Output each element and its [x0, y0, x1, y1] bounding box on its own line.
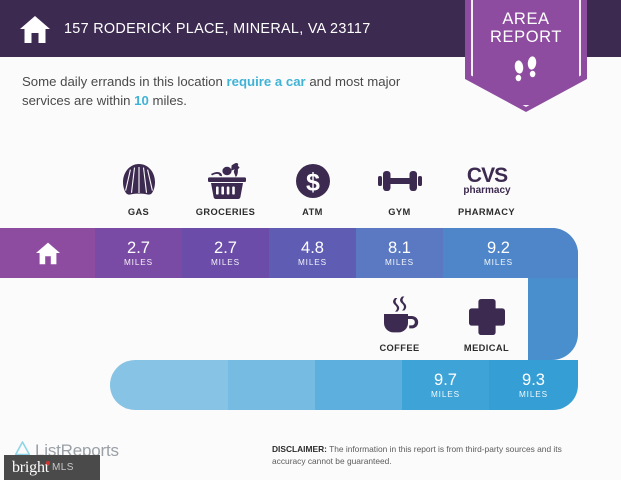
- category-icons-row-1: GAS: [95, 158, 530, 228]
- category-label: COFFEE: [379, 343, 419, 353]
- disclaimer: DISCLAIMER: The information in this repo…: [272, 444, 594, 467]
- distance-cell-gym: 8.1 MILES: [356, 228, 443, 278]
- bright-text: bright: [12, 459, 49, 476]
- category-medical: MEDICAL: [443, 294, 530, 360]
- category-label: ATM: [302, 207, 323, 217]
- category-spacer-1: [95, 294, 182, 360]
- badge-title: AREA REPORT: [465, 10, 587, 46]
- badge-line-1: AREA: [465, 10, 587, 28]
- svg-text:pharmacy: pharmacy: [463, 185, 511, 196]
- grocery-basket-icon: [203, 158, 249, 204]
- category-spacer-2: [182, 294, 269, 360]
- distance-unit: MILES: [298, 258, 327, 267]
- distance-value: 2.7: [214, 240, 237, 257]
- distance-cell-groceries: 2.7 MILES: [182, 228, 269, 278]
- intro-text: Some daily errands in this location requ…: [22, 72, 422, 110]
- mls-label: MLS: [52, 462, 74, 473]
- home-icon: [18, 12, 52, 46]
- footprints-icon: [465, 56, 587, 90]
- cvs-pharmacy-icon: CVS pharmacy: [456, 158, 518, 204]
- category-label: GAS: [128, 207, 149, 217]
- distance-unit: MILES: [211, 258, 240, 267]
- badge-line-2: REPORT: [465, 28, 587, 46]
- shell-gas-icon: [118, 158, 160, 204]
- distance-cell-gas: 2.7 MILES: [95, 228, 182, 278]
- category-icons-row-2: COFFEE MEDICAL: [95, 294, 530, 360]
- dumbbell-icon: [376, 158, 424, 204]
- category-spacer-3: [269, 294, 356, 360]
- category-atm: $ ATM: [269, 158, 356, 228]
- intro-part-1: Some daily errands in this location: [22, 74, 227, 89]
- distance-value: 2.7: [127, 240, 150, 257]
- category-groceries: GROCERIES: [182, 158, 269, 228]
- distance-value: 9.7: [434, 372, 457, 389]
- distance-cell-empty-1: [110, 360, 228, 410]
- intro-part-3: miles.: [149, 93, 187, 108]
- intro-highlight-car: require a car: [227, 74, 306, 89]
- distance-cell-coffee: 9.7 MILES: [402, 360, 489, 410]
- category-label: PHARMACY: [458, 207, 515, 217]
- area-report-badge: AREA REPORT: [465, 0, 587, 112]
- distance-cell-medical: 9.3 MILES: [489, 360, 578, 410]
- category-label: GROCERIES: [196, 207, 255, 217]
- distance-cell-atm: 4.8 MILES: [269, 228, 356, 278]
- distance-unit: MILES: [124, 258, 153, 267]
- distance-value: 9.3: [522, 372, 545, 389]
- medical-cross-icon: [467, 294, 507, 340]
- ribbon-home-cell: [0, 228, 95, 278]
- distance-unit: MILES: [484, 258, 513, 267]
- intro-highlight-miles: 10: [134, 93, 149, 108]
- category-gas: GAS: [95, 158, 182, 228]
- distance-cell-pharmacy: 9.2 MILES: [443, 228, 578, 278]
- bright-accent-dot: [46, 461, 50, 465]
- coffee-cup-icon: [377, 294, 423, 340]
- distance-bar-row-2: 9.7 MILES 9.3 MILES: [110, 360, 578, 410]
- distance-value: 4.8: [301, 240, 324, 257]
- category-label: MEDICAL: [464, 343, 509, 353]
- distance-unit: MILES: [431, 390, 460, 399]
- distance-unit: MILES: [519, 390, 548, 399]
- distance-unit: MILES: [385, 258, 414, 267]
- svg-text:CVS: CVS: [466, 164, 507, 187]
- category-coffee: COFFEE: [356, 294, 443, 360]
- category-pharmacy: CVS pharmacy PHARMACY: [443, 158, 530, 228]
- distance-cell-empty-3: [315, 360, 402, 410]
- dollar-circle-icon: $: [292, 158, 334, 204]
- distance-cell-empty-2: [228, 360, 315, 410]
- distance-value: 8.1: [388, 240, 411, 257]
- area-report-infographic: 157 RODERICK PLACE, MINERAL, VA 23117 AR…: [0, 0, 621, 480]
- bright-label: bright: [12, 459, 49, 477]
- disclaimer-title: DISCLAIMER:: [272, 444, 327, 454]
- page-title: 157 RODERICK PLACE, MINERAL, VA 23117: [64, 21, 371, 37]
- distance-bar-row-1: 2.7 MILES 2.7 MILES 4.8 MILES 8.1 MILES …: [0, 228, 578, 278]
- bright-mls-logo: bright MLS: [4, 455, 100, 480]
- category-label: GYM: [388, 207, 410, 217]
- distance-value: 9.2: [487, 240, 510, 257]
- category-gym: GYM: [356, 158, 443, 228]
- svg-text:$: $: [306, 169, 320, 197]
